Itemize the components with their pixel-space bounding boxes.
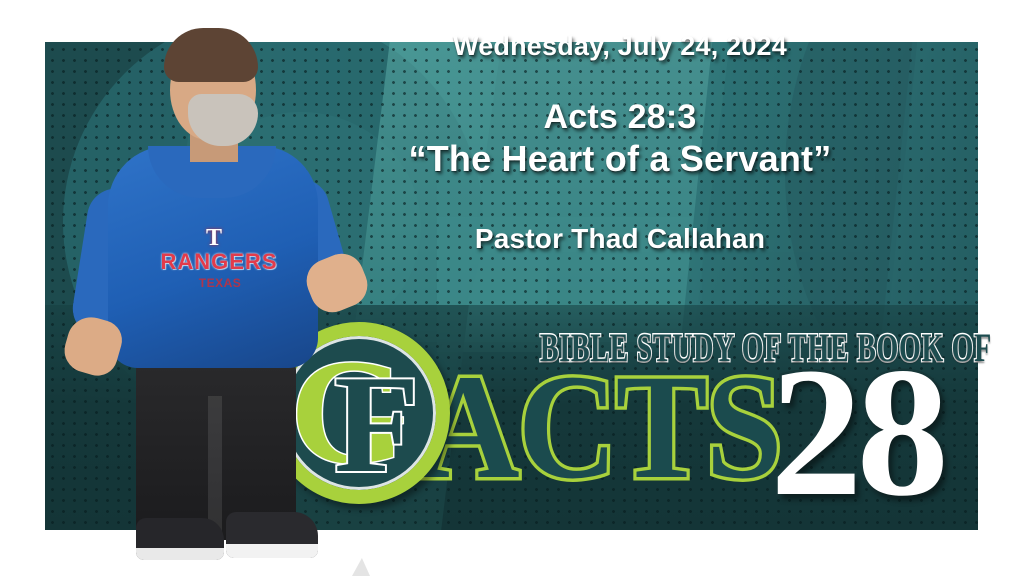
sermon-text-block: Wednesday, July 24, 2024 Acts 28:3 “The … [340, 12, 900, 255]
sermon-title: “The Heart of a Servant” [340, 137, 900, 180]
shirt-team-name: RANGERS [156, 250, 282, 274]
scripture-reference: Acts 28:3 [340, 62, 900, 137]
shirt-team-letter: T [200, 224, 228, 252]
speaker-right-shoe [226, 512, 318, 558]
slide-canvas: Wednesday, July 24, 2024 Acts 28:3 “The … [0, 0, 1024, 576]
service-date: Wednesday, July 24, 2024 [340, 12, 900, 62]
speaker-hair [164, 28, 258, 82]
speaker-left-shoe [136, 518, 224, 560]
speaker-photo: T RANGERS TEXAS [60, 18, 360, 576]
shirt-team-sub: TEXAS [160, 276, 280, 290]
speaker-name: Pastor Thad Callahan [340, 180, 900, 255]
